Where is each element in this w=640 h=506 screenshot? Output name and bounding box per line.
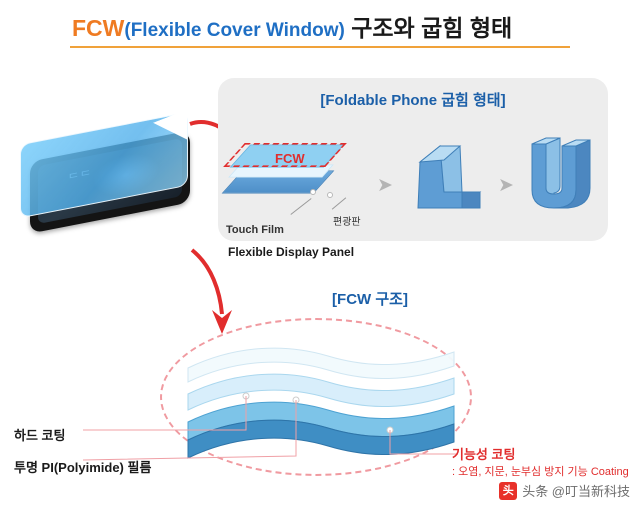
title-part-expansion: (Flexible Cover Window) (124, 20, 344, 41)
diagram-page: FCW(Flexible Cover Window) 구조와 굽힘 형태 ᄃᄃ … (0, 0, 640, 506)
fcw-structure-heading: [FCW 구조] (230, 288, 510, 309)
arrow-right-icon-1: ➤ (377, 176, 393, 195)
fold-shape-u (524, 136, 596, 214)
phone-film-peel-corner (153, 110, 187, 153)
watermark-logo-icon: 头 (499, 482, 517, 500)
phone-mockup: ᄃᄃ (16, 124, 206, 220)
label-touch-film: Touch Film (226, 224, 284, 236)
watermark-text: 头条 @叮当新科技 (522, 481, 630, 500)
label-polarizer: 편광판 (333, 213, 361, 228)
title-bar: FCW(Flexible Cover Window) 구조와 굽힘 형태 (0, 0, 640, 58)
watermark: 头 头条 @叮当新科技 (499, 481, 630, 500)
title-part-fcw: FCW (72, 15, 124, 41)
label-functional-coating-sub: : 오염, 지문, 눈부심 방지 기능 Coating (452, 463, 629, 479)
fcw-layer-stack (178, 338, 468, 468)
foldable-panel-heading: [Foldable Phone 굽힘 형태] (218, 89, 608, 110)
title-part-korean: 구조와 굽힘 형태 (345, 15, 512, 41)
label-functional-coating: 기능성 코팅 (452, 444, 515, 463)
fcw-stack-diagram (232, 136, 348, 222)
page-title: FCW(Flexible Cover Window) 구조와 굽힘 형태 (72, 9, 512, 43)
arrow-right-icon-2: ➤ (498, 176, 514, 195)
title-underline (70, 46, 570, 48)
label-transparent-pi-film: 투명 PI(Polyimide) 필름 (14, 457, 151, 476)
fcw-stack-label: FCW (275, 151, 305, 166)
leader-dot-polarizer (327, 192, 333, 198)
fold-shape-l (414, 140, 492, 214)
leader-dot-touchfilm (310, 189, 316, 195)
label-flexible-display-panel: Flexible Display Panel (228, 245, 354, 259)
label-hard-coating: 하드 코팅 (14, 425, 65, 444)
